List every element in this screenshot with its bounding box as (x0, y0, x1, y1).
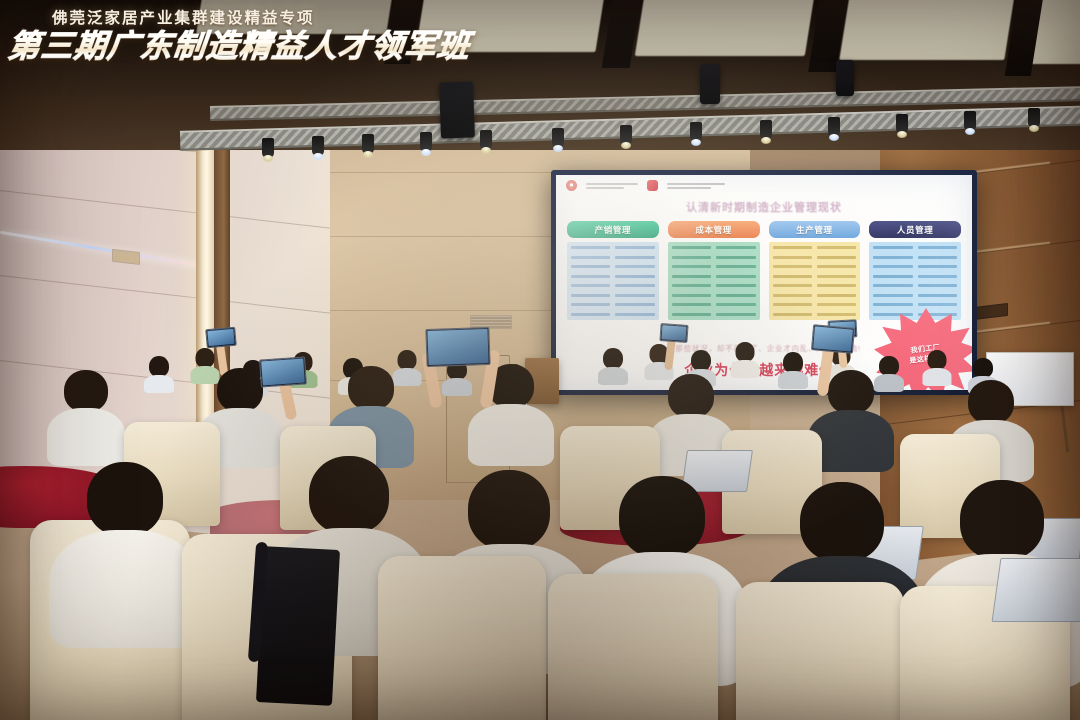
chair (736, 582, 904, 720)
smartphone (659, 323, 688, 343)
attendee (820, 370, 882, 464)
chair (378, 556, 546, 720)
attendee (600, 348, 626, 382)
stage-spotlight-icon (760, 120, 772, 140)
slide-column: 成本管理 (668, 221, 760, 320)
line-array-speaker (700, 64, 720, 104)
audience (0, 330, 1080, 720)
wall-plate (112, 249, 140, 265)
chair (548, 574, 718, 720)
attendee (732, 342, 758, 376)
org-logo-round-text (586, 183, 638, 189)
slide-title: 认清新时期制造企业管理现状 (556, 199, 972, 215)
stage-spotlight-icon (420, 132, 432, 152)
slide-column: 产销管理 (567, 221, 659, 320)
stage-spotlight-icon (896, 114, 908, 134)
backpack (256, 546, 340, 706)
slide-columns: 产销管理 成本管理 (567, 221, 961, 320)
attendee (56, 370, 116, 460)
column-body (668, 242, 760, 320)
laptop (992, 558, 1080, 622)
stage-spotlight-icon (362, 134, 374, 154)
smartphone (259, 356, 307, 387)
attendee (146, 356, 172, 390)
stage-spotlight-icon (1028, 108, 1040, 128)
slide-logos (566, 180, 725, 191)
column-header: 生产管理 (769, 221, 861, 238)
column-body (769, 242, 861, 320)
column-body (567, 242, 659, 320)
org-logo-round-icon (566, 180, 577, 191)
line-array-speaker (439, 81, 475, 138)
stage-spotlight-icon (262, 138, 274, 158)
slide-column: 人员管理 (869, 221, 961, 320)
stage-spotlight-icon (828, 117, 840, 137)
stage-spotlight-icon (552, 128, 564, 148)
conference-photo: 认清新时期制造企业管理现状 产销管理 (0, 0, 1080, 720)
stage-spotlight-icon (312, 136, 324, 156)
stage-spotlight-icon (620, 125, 632, 145)
smartphone (425, 327, 490, 367)
smartphone (205, 327, 237, 349)
org-logo-square-text (667, 183, 725, 189)
column-header: 成本管理 (668, 221, 760, 238)
org-logo-square-icon (647, 180, 658, 191)
attendee (780, 352, 806, 386)
attendee (924, 350, 950, 384)
stage-spotlight-icon (480, 130, 492, 150)
smartphone (811, 324, 855, 354)
venue-scene: 认清新时期制造企业管理现状 产销管理 (0, 0, 1080, 720)
stage-spotlight-icon (690, 122, 702, 142)
slide-column: 生产管理 (769, 221, 861, 320)
column-header: 人员管理 (869, 221, 961, 238)
stage-spotlight-icon (964, 111, 976, 131)
column-body (869, 242, 961, 320)
line-array-speaker (836, 60, 854, 96)
attendee-front (70, 462, 180, 642)
air-vent-icon (972, 303, 1008, 320)
column-header: 产销管理 (567, 221, 659, 238)
